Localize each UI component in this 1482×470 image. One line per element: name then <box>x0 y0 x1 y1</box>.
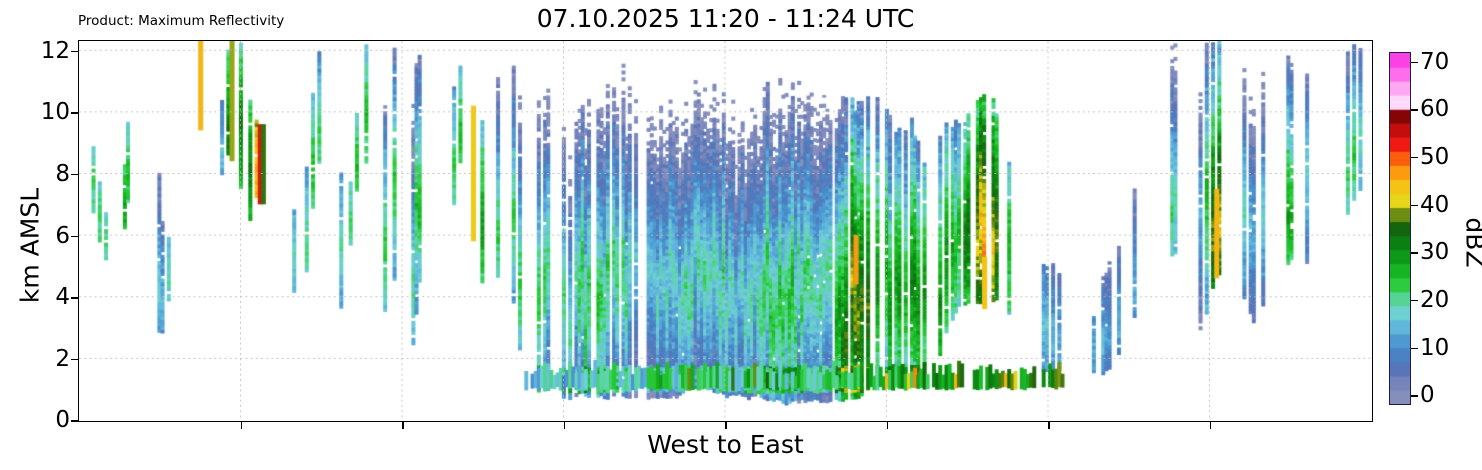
colorbar-tick-mark-20 <box>1411 300 1418 301</box>
y-tick-mark-6 <box>71 236 78 237</box>
y-tick-label-6: 6 <box>8 223 70 249</box>
colorbar-tick-label-10: 10 <box>1420 335 1449 361</box>
x-tick-mark-2 <box>564 422 565 429</box>
y-tick-label-2: 2 <box>8 346 70 372</box>
colorbar <box>1389 52 1411 405</box>
colorbar-tick-label-50: 50 <box>1420 144 1449 170</box>
colorbar-tick-label-30: 30 <box>1420 239 1449 265</box>
colorbar-tick-mark-60 <box>1411 109 1418 110</box>
colorbar-tick-label-70: 70 <box>1420 49 1449 75</box>
y-tick-label-0: 0 <box>8 407 70 433</box>
colorbar-tick-mark-50 <box>1411 157 1418 158</box>
x-tick-mark-5 <box>1048 422 1049 429</box>
colorbar-tick-mark-70 <box>1411 62 1418 63</box>
colorbar-tick-label-40: 40 <box>1420 192 1449 218</box>
colorbar-tick-mark-30 <box>1411 252 1418 253</box>
page-title: 07.10.2025 11:20 - 11:24 UTC <box>78 4 1373 33</box>
y-tick-mark-4 <box>71 297 78 298</box>
y-tick-mark-2 <box>71 359 78 360</box>
reflectivity-heatmap-canvas <box>79 41 1371 420</box>
x-tick-mark-4 <box>887 422 888 429</box>
x-tick-mark-6 <box>1210 422 1211 429</box>
colorbar-tick-mark-40 <box>1411 205 1418 206</box>
y-tick-mark-12 <box>71 51 78 52</box>
colorbar-tick-label-0: 0 <box>1420 382 1435 408</box>
y-tick-label-8: 8 <box>8 161 70 187</box>
y-tick-label-12: 12 <box>8 38 70 64</box>
y-tick-label-4: 4 <box>8 284 70 310</box>
radar-cross-section-figure: Product: Maximum Reflectivity 07.10.2025… <box>0 0 1482 470</box>
colorbar-label: dBZ <box>1461 153 1482 333</box>
y-tick-mark-10 <box>71 112 78 113</box>
x-tick-mark-3 <box>725 422 726 429</box>
colorbar-gradient <box>1390 53 1410 404</box>
colorbar-tick-mark-10 <box>1411 348 1418 349</box>
colorbar-tick-label-20: 20 <box>1420 287 1449 313</box>
y-tick-mark-0 <box>71 420 78 421</box>
colorbar-tick-mark-0 <box>1411 395 1418 396</box>
x-tick-mark-1 <box>402 422 403 429</box>
x-tick-mark-0 <box>241 422 242 429</box>
y-tick-mark-8 <box>71 174 78 175</box>
y-axis-tick-labels: 024681012 <box>0 0 70 470</box>
plot-area <box>78 40 1373 422</box>
x-axis-label: West to East <box>78 430 1373 459</box>
colorbar-tick-label-60: 60 <box>1420 96 1449 122</box>
y-tick-label-10: 10 <box>8 99 70 125</box>
